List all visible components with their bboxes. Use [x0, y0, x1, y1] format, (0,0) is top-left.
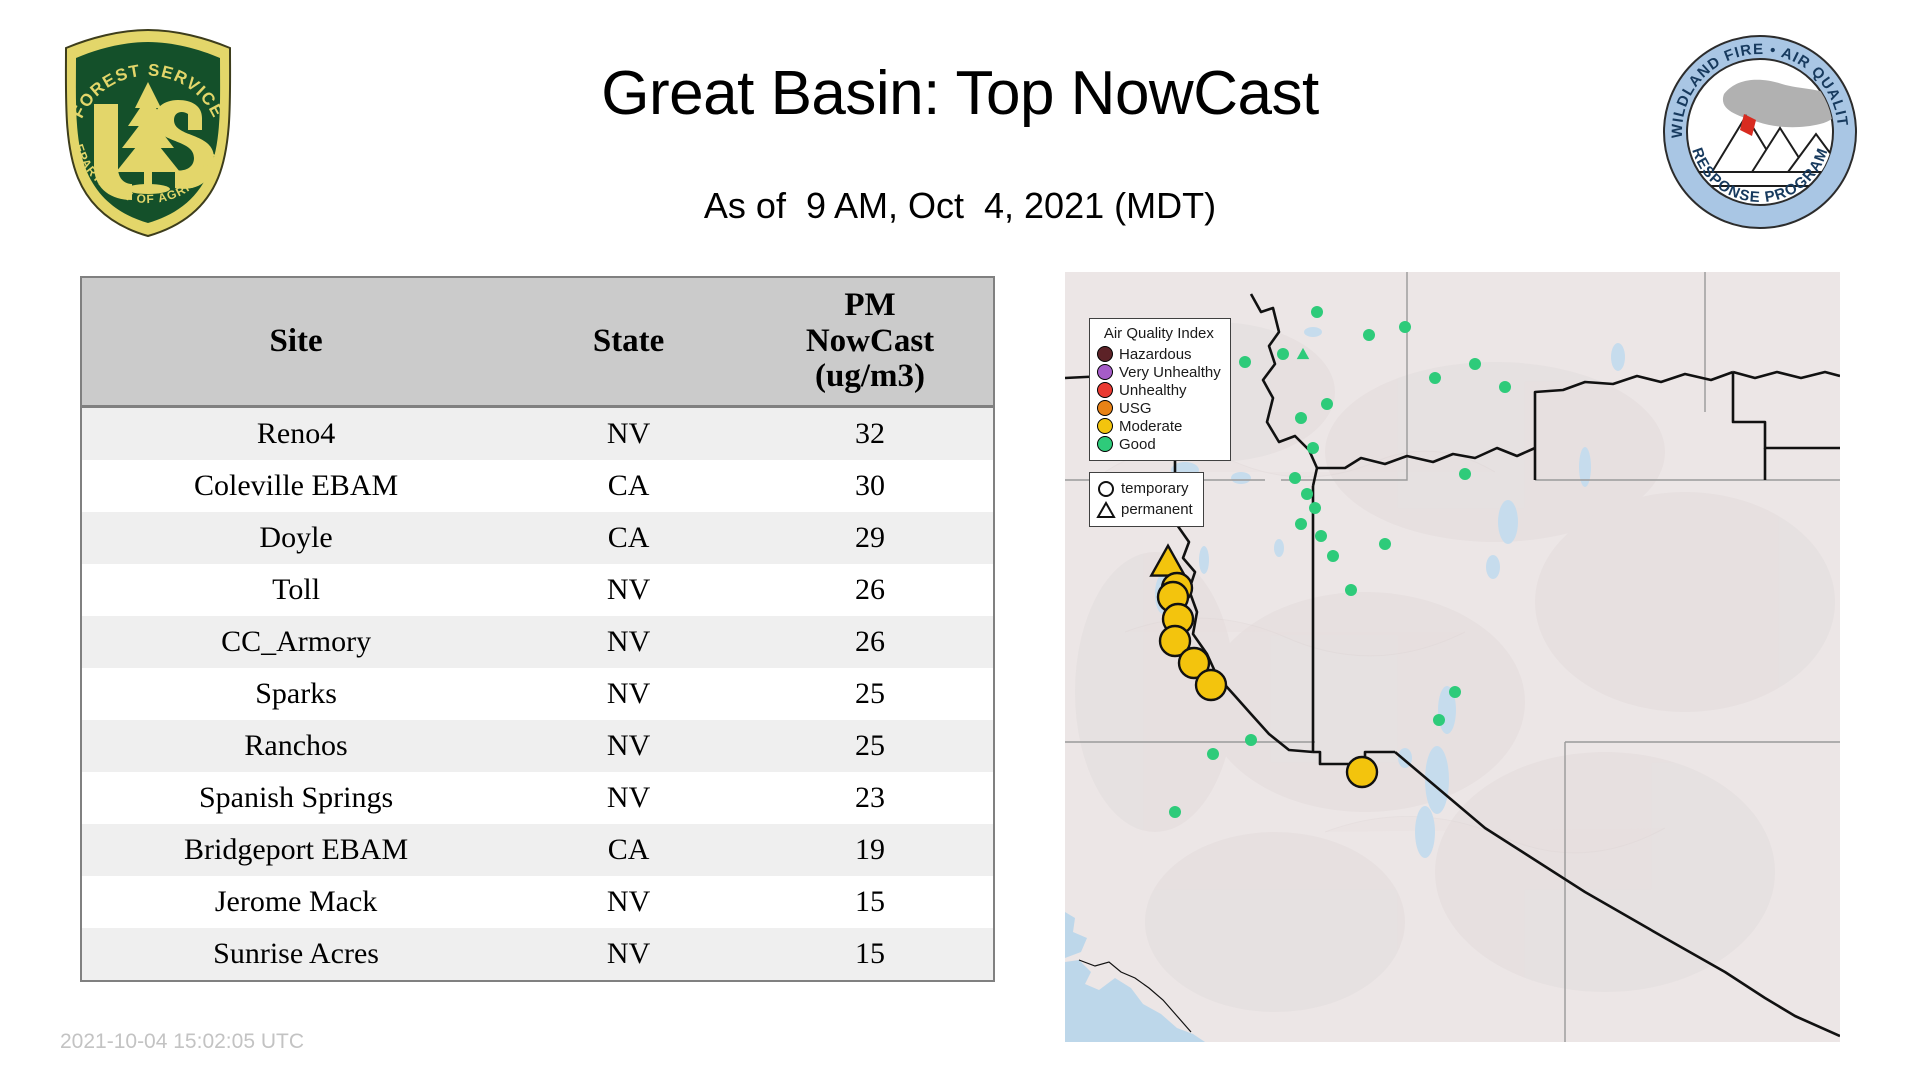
map-monitor-marker[interactable]	[1277, 348, 1289, 360]
nowcast-table-container: Site State PM NowCast (ug/m3) Reno4NV32C…	[80, 276, 995, 982]
aqi-legend-label: USG	[1119, 400, 1152, 417]
map-monitor-marker[interactable]	[1459, 468, 1471, 480]
state-cell: NV	[510, 928, 747, 980]
nowcast-table: Site State PM NowCast (ug/m3) Reno4NV32C…	[82, 278, 993, 980]
map-monitor-marker[interactable]	[1363, 329, 1375, 341]
site-cell: Sparks	[82, 668, 510, 720]
column-header-site: Site	[82, 278, 510, 406]
aqi-legend-label: Good	[1119, 436, 1156, 453]
map-monitor-marker[interactable]	[1295, 412, 1307, 424]
pm-nowcast-cell: 29	[747, 512, 993, 564]
aqi-legend-label: Moderate	[1119, 418, 1182, 435]
symbol-legend: temporary permanent	[1089, 472, 1204, 527]
aqi-legend-title: Air Quality Index	[1097, 325, 1221, 342]
table-row: SparksNV25	[82, 668, 993, 720]
map-monitor-marker[interactable]	[1345, 584, 1357, 596]
map-monitor-marker[interactable]	[1207, 748, 1219, 760]
state-cell: NV	[510, 406, 747, 460]
map-monitor-marker[interactable]	[1196, 670, 1226, 700]
site-cell: Jerome Mack	[82, 876, 510, 928]
table-row: RanchosNV25	[82, 720, 993, 772]
state-cell: NV	[510, 720, 747, 772]
column-header-pm-line3: (ug/m3)	[815, 358, 925, 394]
symbol-legend-temporary: temporary	[1096, 478, 1193, 499]
circle-marker-icon	[1096, 480, 1116, 498]
pm-nowcast-cell: 23	[747, 772, 993, 824]
map-monitor-marker[interactable]	[1311, 306, 1323, 318]
map-monitor-marker[interactable]	[1429, 372, 1441, 384]
aqi-legend-label: Very Unhealthy	[1119, 364, 1221, 381]
column-header-pm-line1: PM	[844, 287, 895, 323]
table-header: Site State PM NowCast (ug/m3)	[82, 278, 993, 406]
aqi-color-swatch	[1097, 346, 1113, 362]
table-row: Bridgeport EBAMCA19	[82, 824, 993, 876]
pm-nowcast-cell: 26	[747, 616, 993, 668]
table-body: Reno4NV32Coleville EBAMCA30DoyleCA29Toll…	[82, 406, 993, 980]
site-cell: CC_Armory	[82, 616, 510, 668]
pm-nowcast-cell: 26	[747, 564, 993, 616]
map-monitor-marker[interactable]	[1307, 442, 1319, 454]
aqi-legend: Air Quality Index HazardousVery Unhealth…	[1089, 318, 1231, 461]
aqi-legend-item: Very Unhealthy	[1097, 363, 1221, 381]
air-quality-map[interactable]: Air Quality Index HazardousVery Unhealth…	[1065, 272, 1840, 1042]
page-subtitle: As of 9 AM, Oct 4, 2021 (MDT)	[0, 185, 1920, 227]
aqi-legend-item: USG	[1097, 399, 1221, 417]
site-cell: Ranchos	[82, 720, 510, 772]
map-monitor-marker[interactable]	[1169, 806, 1181, 818]
pm-nowcast-cell: 19	[747, 824, 993, 876]
symbol-legend-permanent: permanent	[1096, 499, 1193, 520]
table-row: Sunrise AcresNV15	[82, 928, 993, 980]
site-cell: Toll	[82, 564, 510, 616]
pm-nowcast-cell: 30	[747, 460, 993, 512]
aqi-legend-label: Hazardous	[1119, 346, 1192, 363]
map-monitor-marker[interactable]	[1379, 538, 1391, 550]
background-timestamp: 2021-10-04 15:02:05 UTC	[60, 1030, 304, 1054]
pm-nowcast-cell: 25	[747, 720, 993, 772]
pm-nowcast-cell: 32	[747, 406, 993, 460]
site-cell: Sunrise Acres	[82, 928, 510, 980]
map-monitor-marker[interactable]	[1315, 530, 1327, 542]
state-cell: NV	[510, 876, 747, 928]
table-row: DoyleCA29	[82, 512, 993, 564]
aqi-legend-item: Good	[1097, 435, 1221, 453]
site-cell: Spanish Springs	[82, 772, 510, 824]
site-cell: Bridgeport EBAM	[82, 824, 510, 876]
aqi-legend-item: Unhealthy	[1097, 381, 1221, 399]
state-cell: NV	[510, 564, 747, 616]
map-monitor-marker[interactable]	[1321, 398, 1333, 410]
table-row: TollNV26	[82, 564, 993, 616]
map-monitor-marker[interactable]	[1245, 734, 1257, 746]
state-cell: CA	[510, 460, 747, 512]
table-row: Spanish SpringsNV23	[82, 772, 993, 824]
aqi-legend-item: Hazardous	[1097, 345, 1221, 363]
map-monitor-marker[interactable]	[1327, 550, 1339, 562]
state-cell: CA	[510, 512, 747, 564]
aqi-color-swatch	[1097, 382, 1113, 398]
map-monitor-marker[interactable]	[1449, 686, 1461, 698]
aqi-legend-rows: HazardousVery UnhealthyUnhealthyUSGModer…	[1097, 345, 1221, 453]
map-monitor-marker[interactable]	[1469, 358, 1481, 370]
site-cell: Coleville EBAM	[82, 460, 510, 512]
map-monitor-marker[interactable]	[1239, 356, 1251, 368]
column-header-pm-line2: NowCast	[806, 323, 934, 359]
map-monitor-marker[interactable]	[1399, 321, 1411, 333]
map-monitor-marker[interactable]	[1309, 502, 1321, 514]
map-monitor-marker[interactable]	[1433, 714, 1445, 726]
table-row: CC_ArmoryNV26	[82, 616, 993, 668]
aqi-legend-item: Moderate	[1097, 417, 1221, 435]
map-monitor-marker[interactable]	[1347, 757, 1377, 787]
state-cell: NV	[510, 772, 747, 824]
site-cell: Doyle	[82, 512, 510, 564]
state-cell: CA	[510, 824, 747, 876]
table-row: Jerome MackNV15	[82, 876, 993, 928]
aqi-color-swatch	[1097, 364, 1113, 380]
state-cell: NV	[510, 616, 747, 668]
map-monitor-marker[interactable]	[1301, 488, 1313, 500]
map-monitor-marker[interactable]	[1499, 381, 1511, 393]
aqi-color-swatch	[1097, 400, 1113, 416]
aqi-color-swatch	[1097, 436, 1113, 452]
pm-nowcast-cell: 15	[747, 928, 993, 980]
site-cell: Reno4	[82, 406, 510, 460]
page-title: Great Basin: Top NowCast	[0, 58, 1920, 129]
table-header-row: Site State PM NowCast (ug/m3)	[82, 278, 993, 406]
symbol-legend-temporary-label: temporary	[1121, 480, 1189, 497]
triangle-marker-icon	[1096, 501, 1116, 519]
table-row: Coleville EBAMCA30	[82, 460, 993, 512]
column-header-state: State	[510, 278, 747, 406]
column-header-pm-nowcast: PM NowCast (ug/m3)	[747, 278, 993, 406]
aqi-color-swatch	[1097, 418, 1113, 434]
aqi-legend-label: Unhealthy	[1119, 382, 1187, 399]
table-row: Reno4NV32	[82, 406, 993, 460]
map-monitor-marker[interactable]	[1295, 518, 1307, 530]
pm-nowcast-cell: 15	[747, 876, 993, 928]
state-cell: NV	[510, 668, 747, 720]
pm-nowcast-cell: 25	[747, 668, 993, 720]
symbol-legend-permanent-label: permanent	[1121, 501, 1193, 518]
map-monitor-marker[interactable]	[1289, 472, 1301, 484]
